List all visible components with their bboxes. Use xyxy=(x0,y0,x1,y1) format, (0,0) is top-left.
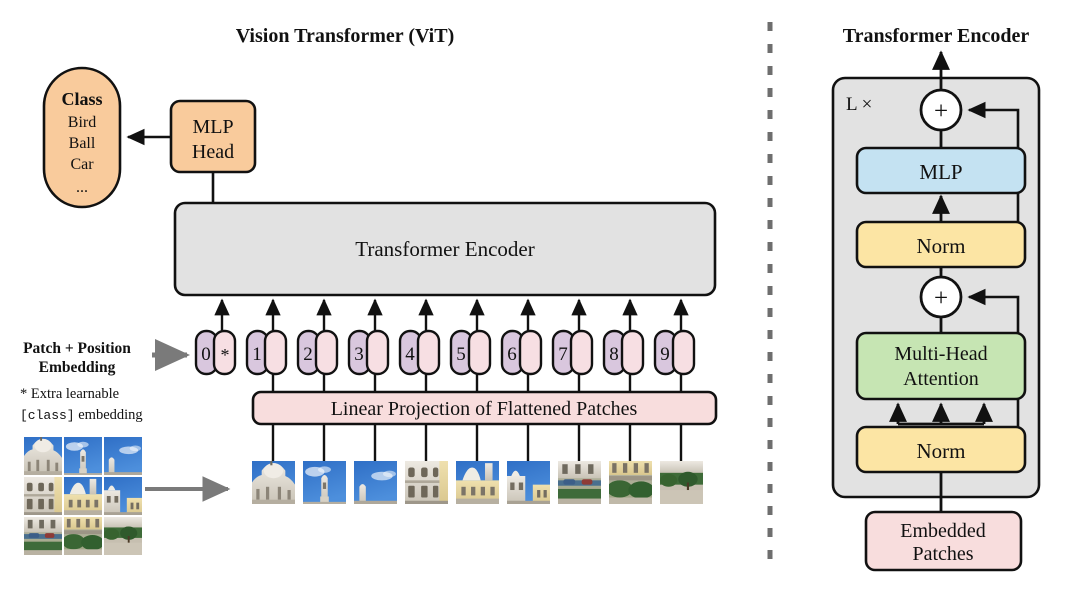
flattened-patch-sequence xyxy=(252,461,703,504)
multi-head-attention-line1: Multi-Head xyxy=(894,343,987,365)
class-item-3: ... xyxy=(76,179,88,196)
left-panel-title: Vision Transformer (ViT) xyxy=(236,25,455,47)
patch-position-embedding-tokens: 0 * 1 2 3 4 xyxy=(196,300,694,392)
token-5-index: 5 xyxy=(456,344,466,365)
encoder-repeat-label: L × xyxy=(846,94,872,115)
token-8-index: 8 xyxy=(609,344,619,365)
class-item-2: Car xyxy=(70,156,94,173)
class-item-1: Ball xyxy=(69,135,96,152)
class-item-0: Bird xyxy=(68,114,96,131)
connectors-projection-to-patches xyxy=(273,424,681,462)
token-6-index: 6 xyxy=(507,344,517,365)
multi-head-attention-line2: Attention xyxy=(903,368,979,390)
linear-projection-label: Linear Projection of Flattened Patches xyxy=(331,398,638,420)
residual-add-lower-symbol: + xyxy=(934,285,948,312)
token-5: 5 xyxy=(451,300,490,392)
residual-add-upper-symbol: + xyxy=(934,98,948,125)
mlp-head-line2: Head xyxy=(192,141,234,163)
source-image-patch-grid xyxy=(24,437,142,555)
right-panel-title: Transformer Encoder xyxy=(843,25,1030,47)
token-0: 0 * xyxy=(196,300,235,374)
token-1-index: 1 xyxy=(252,344,262,365)
embedding-label-line1: Patch + Position xyxy=(23,340,131,357)
vit-architecture-figure: Vision Transformer (ViT) Transformer Enc… xyxy=(0,0,1080,593)
norm-block-lower-label: Norm xyxy=(917,439,966,463)
footnote-line1: * Extra learnable xyxy=(20,386,119,402)
figure-canvas: Vision Transformer (ViT) Transformer Enc… xyxy=(0,0,1080,593)
token-6: 6 xyxy=(502,300,541,392)
token-0-index: 0 xyxy=(201,344,211,365)
norm-block-upper-label: Norm xyxy=(917,234,966,258)
token-2-index: 2 xyxy=(303,344,313,365)
token-3: 3 xyxy=(349,300,388,392)
token-4: 4 xyxy=(400,300,439,392)
token-1: 1 xyxy=(247,300,286,392)
token-8: 8 xyxy=(604,300,643,392)
footnote-line2: [class] embedding xyxy=(20,407,143,423)
token-7-index: 7 xyxy=(558,344,568,365)
token-2: 2 xyxy=(298,300,337,392)
mlp-head-line1: MLP xyxy=(192,116,233,138)
embedded-patches-line2: Patches xyxy=(912,543,973,565)
token-7: 7 xyxy=(553,300,592,392)
token-9-index: 9 xyxy=(660,344,670,365)
embedding-label-line2: Embedding xyxy=(39,359,116,376)
class-heading: Class xyxy=(61,89,102,109)
token-3-index: 3 xyxy=(354,344,364,365)
mlp-block-label: MLP xyxy=(919,160,962,184)
token-0-star: * xyxy=(221,345,230,365)
embedded-patches-line1: Embedded xyxy=(900,520,986,542)
token-4-index: 4 xyxy=(405,344,415,365)
token-9: 9 xyxy=(655,300,694,392)
transformer-encoder-label: Transformer Encoder xyxy=(355,237,534,261)
